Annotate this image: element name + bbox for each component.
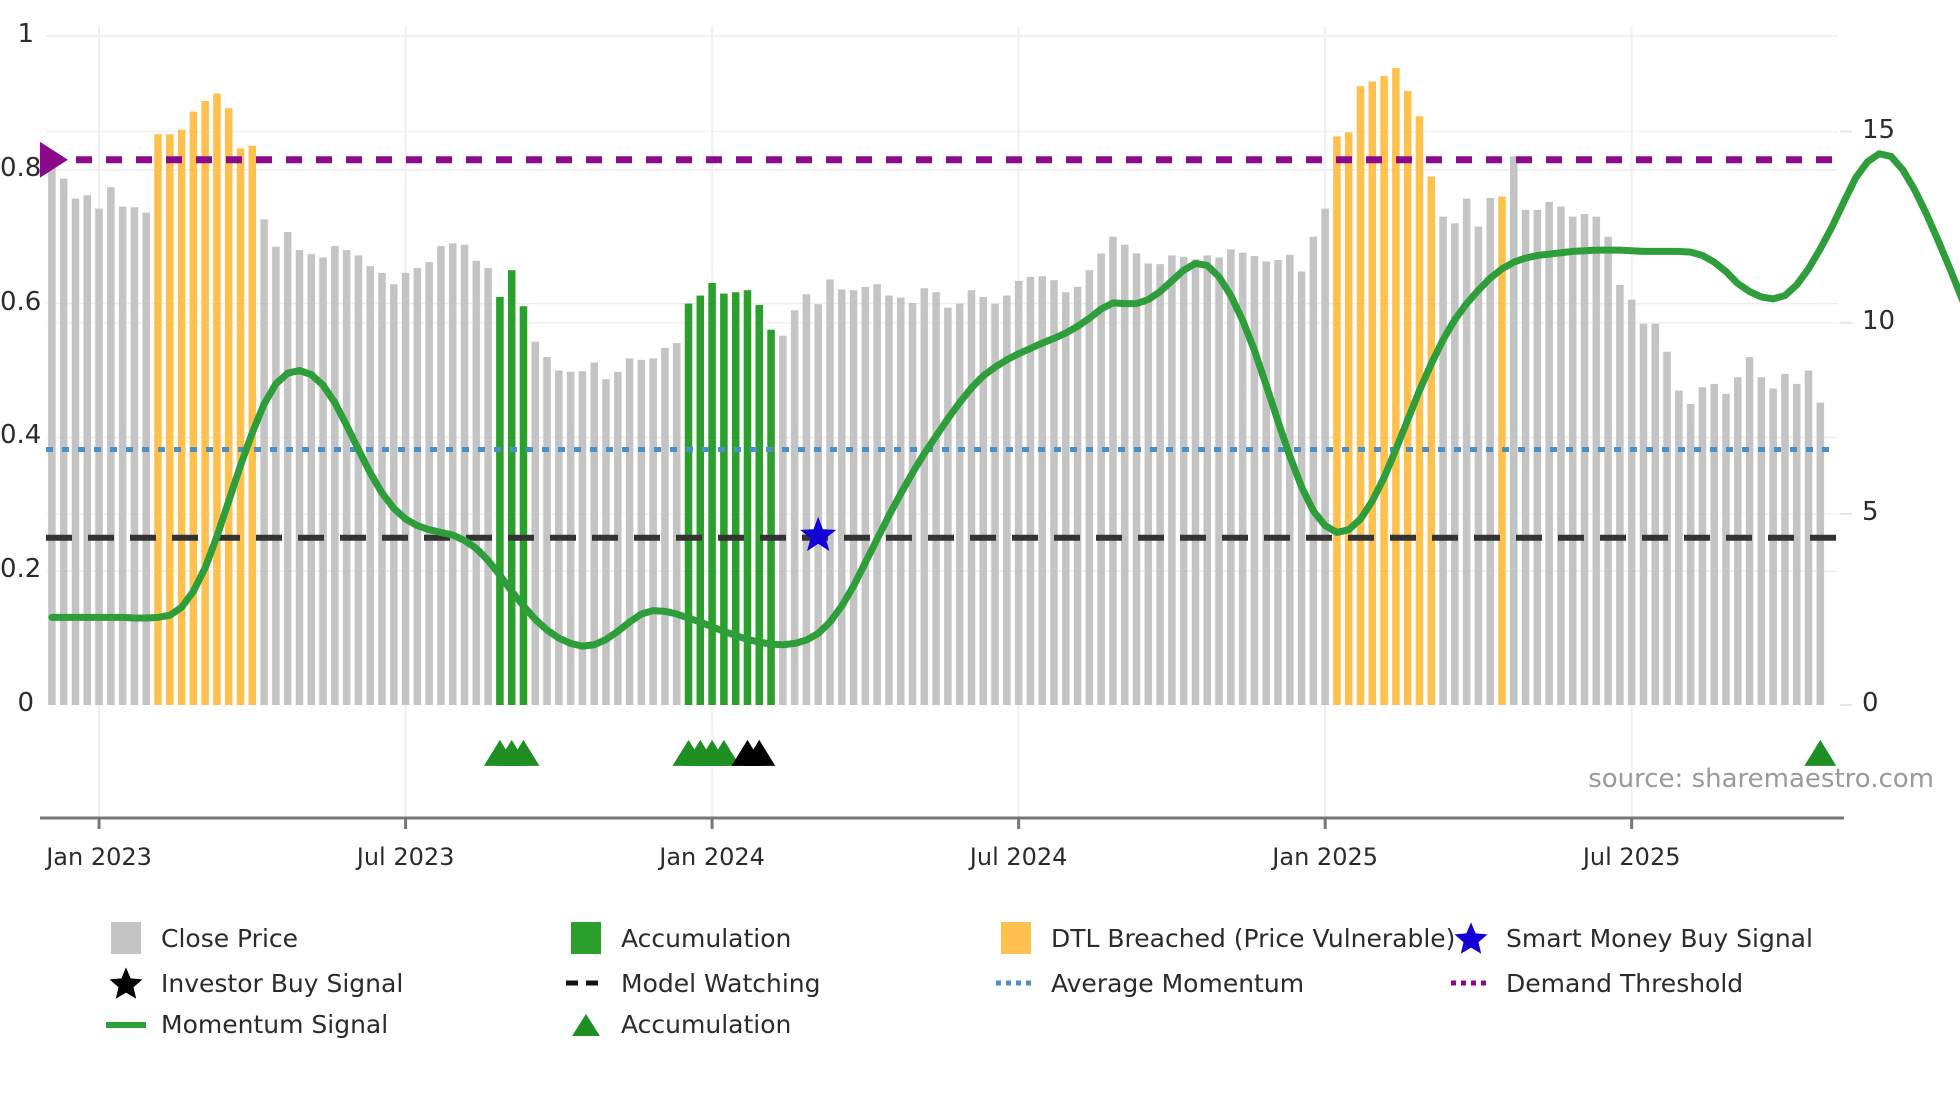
- price-bar: [838, 290, 846, 705]
- price-bar: [1015, 281, 1023, 705]
- price-bar: [1699, 387, 1707, 705]
- price-bar: [1286, 255, 1294, 705]
- price-bar: [1192, 259, 1200, 705]
- price-bar: [697, 296, 705, 705]
- y-axis-right-tick-label: 5: [1862, 497, 1879, 527]
- legend-accumulation-triangle[interactable]: Accumulation: [565, 1010, 995, 1039]
- price-bar: [826, 280, 834, 705]
- legend-row-1: Close Price Accumulation DTL Breached (P…: [105, 920, 1865, 956]
- price-bar: [178, 130, 186, 705]
- star-icon: [1450, 920, 1492, 956]
- legend-accumulation-bar[interactable]: Accumulation: [565, 920, 995, 956]
- price-bar: [1156, 264, 1164, 705]
- price-bar: [873, 284, 881, 705]
- price-bar: [1086, 270, 1094, 705]
- legend-label: DTL Breached (Price Vulnerable): [1051, 924, 1455, 953]
- price-bar: [1310, 237, 1318, 705]
- price-bar: [543, 357, 551, 705]
- price-bar: [932, 292, 940, 705]
- price-bar: [968, 290, 976, 705]
- dtl-breached-swatch-icon: [995, 922, 1037, 954]
- x-axis-tick-label: Jul 2025: [1522, 843, 1742, 871]
- price-bar: [885, 296, 893, 705]
- price-bar: [484, 268, 492, 705]
- price-bar: [956, 304, 964, 705]
- price-bar: [1380, 76, 1388, 705]
- price-bar: [1758, 377, 1766, 705]
- y-axis-left-tick-label: 0.4: [0, 420, 34, 450]
- price-bar: [461, 245, 469, 705]
- price-bar: [1203, 255, 1211, 705]
- price-bar: [1663, 352, 1671, 705]
- price-bar: [437, 246, 445, 705]
- legend-momentum-signal[interactable]: Momentum Signal: [105, 1010, 565, 1039]
- price-bar: [1369, 81, 1377, 705]
- price-bar: [779, 336, 787, 705]
- price-bar: [1321, 209, 1329, 705]
- close-price-swatch-icon: [105, 922, 147, 954]
- x-axis-tick-label: Jul 2023: [296, 843, 516, 871]
- y-axis-right-tick-label: 15: [1862, 115, 1895, 145]
- price-bar: [1651, 324, 1659, 705]
- price-bar: [402, 273, 410, 705]
- price-bar: [343, 250, 351, 705]
- chart-page: source: sharemaestro.com Close Price Acc…: [0, 0, 1960, 1102]
- price-bar: [638, 360, 646, 705]
- price-bar: [225, 108, 233, 705]
- price-bar: [767, 330, 775, 705]
- price-bar: [213, 94, 221, 705]
- legend-label: Accumulation: [621, 1010, 791, 1039]
- price-bar: [1628, 300, 1636, 705]
- legend-label: Smart Money Buy Signal: [1506, 924, 1813, 953]
- legend-smart-money[interactable]: Smart Money Buy Signal: [1450, 920, 1850, 956]
- y-axis-left-tick-label: 0.6: [0, 287, 34, 317]
- source-watermark: source: sharemaestro.com: [1588, 764, 1934, 794]
- legend-dtl-breached[interactable]: DTL Breached (Price Vulnerable): [995, 920, 1450, 956]
- price-bar: [473, 261, 481, 705]
- legend-model-watching[interactable]: Model Watching: [565, 965, 995, 1001]
- price-bar: [979, 297, 987, 705]
- price-bar: [190, 112, 198, 705]
- price-bar: [119, 207, 127, 705]
- legend-demand-threshold[interactable]: Demand Threshold: [1450, 965, 1850, 1001]
- price-bar: [590, 362, 598, 705]
- x-axis-tick-label: Jan 2024: [602, 843, 822, 871]
- price-bar: [1734, 377, 1742, 705]
- price-bar: [1557, 207, 1565, 705]
- legend-label: Momentum Signal: [161, 1010, 388, 1039]
- price-bar: [649, 358, 657, 705]
- price-bar: [944, 308, 952, 705]
- price-bar: [331, 246, 339, 705]
- price-bar: [260, 219, 268, 705]
- price-bar: [708, 283, 716, 705]
- legend-label: Investor Buy Signal: [161, 969, 403, 998]
- price-bar: [296, 250, 304, 705]
- y-axis-left-tick-label: 1: [0, 19, 34, 49]
- price-bar: [1262, 261, 1270, 705]
- price-bar: [355, 255, 363, 705]
- solid-line-icon: [105, 1018, 147, 1032]
- price-bar: [1451, 223, 1459, 705]
- price-bar: [1687, 404, 1695, 705]
- price-bar: [1274, 260, 1282, 705]
- chart-legend: Close Price Accumulation DTL Breached (P…: [105, 920, 1865, 1039]
- price-bar: [862, 287, 870, 705]
- price-bar: [685, 304, 693, 705]
- price-bar: [201, 101, 209, 705]
- price-bar: [1522, 210, 1530, 705]
- price-bar: [48, 160, 56, 705]
- y-axis-left-tick-label: 0.8: [0, 153, 34, 183]
- legend-label: Model Watching: [621, 969, 821, 998]
- price-bar: [720, 294, 728, 705]
- price-bar: [414, 268, 422, 705]
- legend-row-3: Momentum Signal Accumulation: [105, 1010, 1865, 1039]
- price-bar: [1215, 257, 1223, 705]
- price-bar: [284, 232, 292, 705]
- price-bar: [508, 270, 516, 705]
- price-bar: [1251, 256, 1259, 705]
- price-bar: [1439, 217, 1447, 705]
- price-bar: [1133, 253, 1141, 705]
- legend-average-momentum[interactable]: Average Momentum: [995, 965, 1450, 1001]
- price-bar: [1510, 156, 1518, 705]
- price-bar: [921, 288, 929, 705]
- legend-label: Close Price: [161, 924, 298, 953]
- price-bar: [1416, 116, 1424, 705]
- price-bar: [1616, 285, 1624, 705]
- price-bar: [390, 284, 398, 705]
- price-bar: [520, 306, 528, 705]
- y-axis-right-tick-label: 10: [1862, 306, 1895, 336]
- price-bar: [1180, 257, 1188, 705]
- y-axis-left-tick-label: 0: [0, 688, 34, 718]
- accumulation-swatch-icon: [565, 922, 607, 954]
- legend-close-price[interactable]: Close Price: [105, 920, 565, 956]
- price-bar: [1050, 280, 1058, 705]
- price-bar: [1640, 324, 1648, 705]
- triangle-up-icon: [565, 1011, 607, 1039]
- price-bar: [661, 348, 669, 705]
- price-bar: [1604, 237, 1612, 705]
- price-bar: [1333, 136, 1341, 705]
- price-bar: [272, 247, 280, 705]
- price-bar: [1793, 384, 1801, 705]
- price-bar: [1074, 287, 1082, 705]
- price-bar: [1121, 245, 1129, 705]
- price-bar: [1769, 389, 1777, 705]
- y-axis-left-tick-label: 0.2: [0, 554, 34, 584]
- dotted-line-icon: [995, 976, 1037, 990]
- price-bar: [626, 358, 634, 705]
- legend-label: Accumulation: [621, 924, 791, 953]
- price-bar: [1746, 357, 1754, 705]
- price-bar: [95, 209, 103, 705]
- price-bar: [307, 254, 315, 705]
- price-bar: [602, 379, 610, 705]
- price-bar: [1593, 217, 1601, 705]
- dashed-line-icon: [565, 976, 607, 990]
- price-bar: [531, 342, 539, 705]
- x-axis-tick-label: Jan 2025: [1215, 843, 1435, 871]
- price-bar: [1097, 253, 1105, 705]
- price-bar: [579, 371, 587, 705]
- price-bar: [732, 292, 740, 705]
- price-bar: [366, 266, 374, 705]
- price-bar: [909, 303, 917, 705]
- legend-row-2: Investor Buy Signal Model Watching Avera…: [105, 965, 1865, 1001]
- price-bar: [449, 243, 457, 705]
- legend-label: Average Momentum: [1051, 969, 1304, 998]
- price-bar: [1675, 391, 1683, 705]
- price-bar: [673, 343, 681, 705]
- price-bar: [1345, 132, 1353, 705]
- price-bar: [1392, 68, 1400, 705]
- price-bar: [1534, 210, 1542, 705]
- price-bar: [131, 207, 139, 705]
- x-axis-tick-label: Jul 2024: [909, 843, 1129, 871]
- price-bar: [1722, 394, 1730, 705]
- x-axis-tick-label: Jan 2023: [0, 843, 209, 871]
- price-bar: [1145, 263, 1153, 705]
- price-bar: [1227, 249, 1235, 705]
- price-bar: [142, 213, 150, 705]
- price-bar: [237, 148, 245, 705]
- price-bar: [850, 290, 858, 705]
- price-bar: [1569, 217, 1577, 705]
- price-bar: [1463, 199, 1471, 705]
- price-bar: [1357, 86, 1365, 705]
- price-bar: [425, 262, 433, 705]
- price-bar: [814, 304, 822, 705]
- price-bar: [60, 178, 68, 705]
- y-axis-right-tick-label: 0: [1862, 688, 1879, 718]
- legend-investor-buy[interactable]: Investor Buy Signal: [105, 965, 565, 1001]
- price-bar: [1168, 255, 1176, 705]
- price-bar: [1710, 384, 1718, 705]
- price-bar: [166, 134, 174, 705]
- legend-label: Demand Threshold: [1506, 969, 1743, 998]
- price-bar: [319, 257, 327, 705]
- price-bar: [1062, 292, 1070, 705]
- price-bar: [1027, 277, 1035, 705]
- price-bar: [1427, 176, 1435, 705]
- price-bar: [1404, 91, 1412, 705]
- price-bar: [1581, 214, 1589, 705]
- price-bar: [107, 187, 115, 705]
- price-bar: [496, 297, 504, 705]
- dotted-line-icon: [1450, 976, 1492, 990]
- marker-accumulation-triangle-icon: [1804, 740, 1836, 766]
- star-icon: [105, 965, 147, 1001]
- price-bar: [1545, 202, 1553, 705]
